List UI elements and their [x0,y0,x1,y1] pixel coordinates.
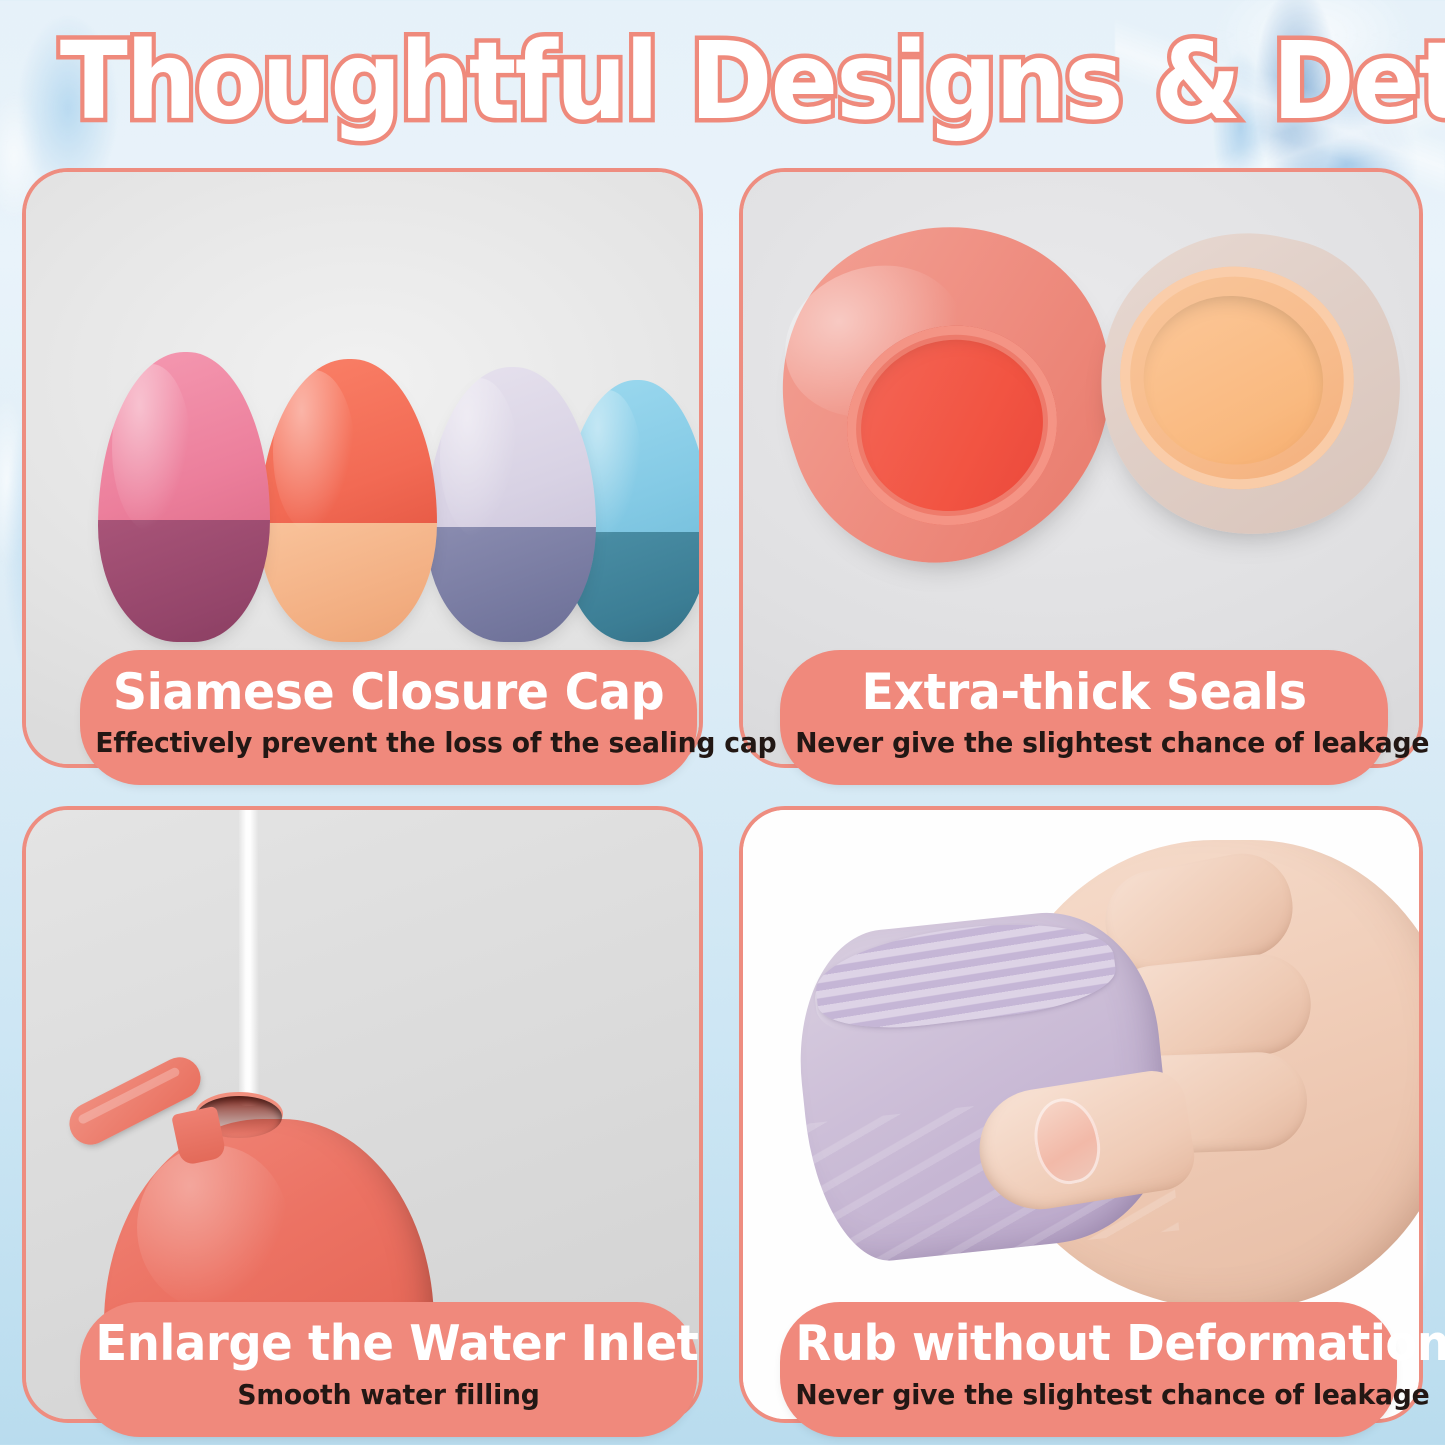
bottle-base-maroon [98,520,270,642]
page-title-text: Thoughtful Designs & Details [60,24,1445,140]
caption-title: Enlarge the Water Inlet [95,1314,681,1374]
caption-subtitle: Never give the slightest chance of leaka… [795,722,1373,764]
caption-title: Rub without Deformation [795,1314,1381,1374]
product-coral-seal-cup [740,184,1156,600]
caption-subtitle: Never give the slightest chance of leaka… [795,1374,1381,1416]
product-peach-seal-cup [1073,206,1423,562]
product-lavender-bottle [426,367,596,642]
bottle-cap-lavender [426,367,596,527]
bottle-cap-coral [259,359,437,523]
caption-rub-without-deformation: Rub without Deformation Never give the s… [780,1302,1397,1437]
product-pink-bottle [98,352,270,642]
caption-title: Extra-thick Seals [795,662,1373,722]
water-stream-icon [239,806,259,1106]
feature-grid [22,168,1423,1423]
caption-title: Siamese Closure Cap [95,662,681,722]
caption-siamese-closure-cap: Siamese Closure Cap Effectively prevent … [80,650,697,785]
caption-enlarge-water-inlet: Enlarge the Water Inlet Smooth water fil… [80,1302,697,1437]
bottle-cap-pink [98,352,270,520]
page-title: Thoughtful Designs & Details [0,24,1445,140]
caption-extra-thick-seals: Extra-thick Seals Never give the slighte… [780,650,1388,785]
bottle-base-peach [259,523,437,642]
caption-subtitle: Smooth water filling [95,1374,681,1416]
bottle-base-slate [426,527,596,643]
product-coral-bottle [259,359,437,642]
caption-subtitle: Effectively prevent the loss of the seal… [95,722,681,764]
